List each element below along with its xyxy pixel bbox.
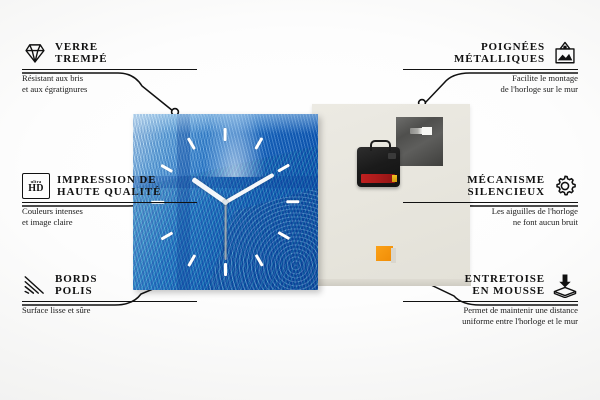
callout-divider xyxy=(403,301,578,302)
callout-header: MÉCANISMESILENCIEUX xyxy=(403,173,578,199)
callout-entretoise-en-mousse: ENTRETOISEEN MOUSSE Permet de maintenir … xyxy=(403,272,578,326)
callout-bords-polis: BORDSPOLIS Surface lisse et sûre xyxy=(22,272,197,316)
callout-header: BORDSPOLIS xyxy=(22,272,197,298)
callout-subtitle: Facilite le montagede l'horloge sur le m… xyxy=(403,73,578,94)
clock-tick xyxy=(224,128,227,141)
callout-title: POIGNÉESMÉTALLIQUES xyxy=(454,41,545,66)
clock-tick xyxy=(278,231,291,240)
movement-dial xyxy=(388,153,396,159)
callout-subtitle: Les aiguilles de l'horlogene font aucun … xyxy=(403,206,578,227)
callout-divider xyxy=(403,69,578,70)
callout-title: BORDSPOLIS xyxy=(55,273,97,298)
callout-header: VERRETREMPÉ xyxy=(22,40,197,66)
clock-tick xyxy=(278,164,291,173)
callout-impression-haute-qualite: ultra HD IMPRESSION DEHAUTE QUALITÉ Coul… xyxy=(22,173,197,227)
foam-spacer-pad xyxy=(376,246,393,261)
hand-second xyxy=(225,202,227,260)
callout-title: IMPRESSION DEHAUTE QUALITÉ xyxy=(57,174,161,199)
foam-spacer-icon xyxy=(552,272,578,298)
callout-header: POIGNÉESMÉTALLIQUES xyxy=(403,40,578,66)
polished-edge-icon xyxy=(22,272,48,298)
callout-divider xyxy=(22,69,197,70)
callout-header: ultra HD IMPRESSION DEHAUTE QUALITÉ xyxy=(22,173,197,199)
hd-label: HD xyxy=(28,184,44,194)
clock-tick xyxy=(187,137,196,150)
callout-divider xyxy=(22,301,197,302)
callout-subtitle: Surface lisse et sûre xyxy=(22,305,197,315)
wall-frame-icon xyxy=(552,40,578,66)
callout-title: ENTRETOISEEN MOUSSE xyxy=(465,273,545,298)
callout-subtitle: Permet de maintenir une distanceuniforme… xyxy=(403,305,578,326)
clock-tick xyxy=(255,137,264,150)
hanger-slot xyxy=(410,128,432,134)
callout-mecanisme-silencieux: MÉCANISMESILENCIEUX Les aiguilles de l'h… xyxy=(403,173,578,227)
clock-tick xyxy=(161,231,174,240)
diamond-icon xyxy=(22,40,48,66)
callout-poignees-metalliques: POIGNÉESMÉTALLIQUES Facilite le montaged… xyxy=(403,40,578,94)
infographic-canvas: VERRETREMPÉ Résistant aux briset aux égr… xyxy=(0,0,600,400)
callout-subtitle: Résistant aux briset aux égratignures xyxy=(22,73,197,94)
metal-hanger-plate xyxy=(396,117,443,166)
callout-verre-trempe: VERRETREMPÉ Résistant aux briset aux égr… xyxy=(22,40,197,94)
hand-minute xyxy=(225,173,275,204)
callout-divider xyxy=(403,202,578,203)
ultra-hd-icon: ultra HD xyxy=(22,173,50,199)
callout-divider xyxy=(22,202,197,203)
movement-hook xyxy=(370,140,391,151)
clock-tick xyxy=(187,254,196,267)
clock-tick xyxy=(161,164,174,173)
battery xyxy=(361,174,395,183)
callout-subtitle: Couleurs intenseset image claire xyxy=(22,206,197,227)
callout-header: ENTRETOISEEN MOUSSE xyxy=(403,272,578,298)
clock-tick xyxy=(255,254,264,267)
callout-title: VERRETREMPÉ xyxy=(55,41,107,66)
gear-icon xyxy=(552,173,578,199)
clock-movement xyxy=(357,147,400,187)
clock-tick xyxy=(287,201,300,204)
clock-hub xyxy=(223,200,228,205)
clock-tick xyxy=(224,263,227,276)
callout-title: MÉCANISMESILENCIEUX xyxy=(467,174,545,199)
